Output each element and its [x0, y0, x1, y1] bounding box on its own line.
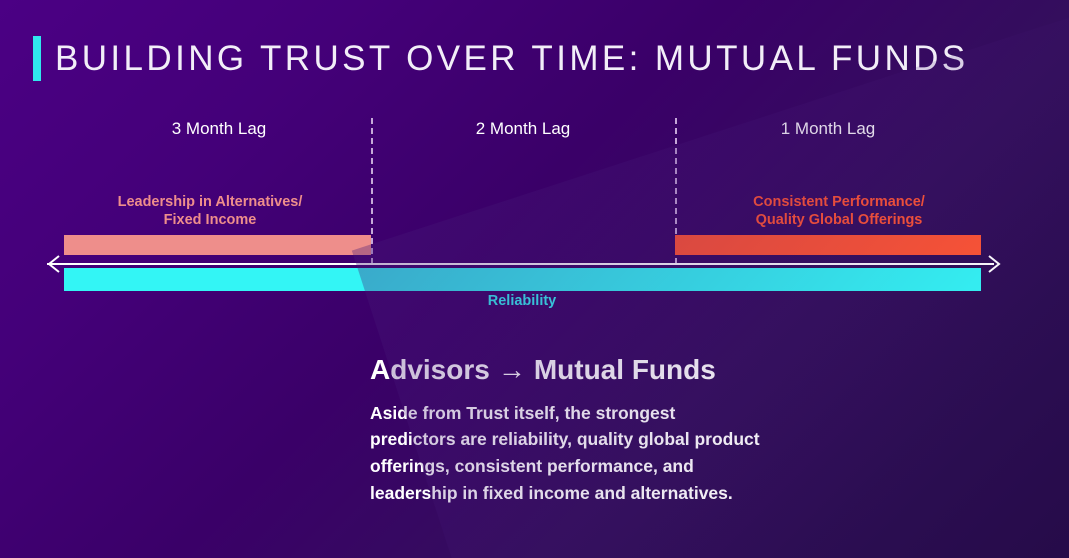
- segment-bar-alternatives: [64, 235, 371, 255]
- lag-label-3-month: 3 Month Lag: [172, 119, 267, 139]
- timeline-divider-1: [371, 118, 373, 264]
- summary-heading-right: Mutual Funds: [534, 355, 716, 386]
- reliability-label: Reliability: [488, 293, 557, 309]
- summary-body-line-4: leadership in fixed income and alternati…: [370, 480, 930, 507]
- lag-label-2-month: 2 Month Lag: [476, 119, 571, 139]
- segment-caption-performance-line2: Quality Global Offerings: [753, 211, 925, 229]
- summary-body-line-2: predictors are reliability, quality glob…: [370, 426, 930, 453]
- right-arrow-icon: [986, 255, 1002, 273]
- segment-caption-alternatives-line1: Leadership in Alternatives/: [118, 193, 303, 211]
- summary-body-line-3: offerings, consistent performance, and: [370, 453, 930, 480]
- reliability-bar: [64, 268, 981, 291]
- slide-canvas: BUILDING TRUST OVER TIME: MUTUAL FUNDS 3…: [0, 0, 1069, 558]
- segment-caption-performance-line1: Consistent Performance/: [753, 193, 925, 211]
- segment-caption-alternatives-line2: Fixed Income: [118, 211, 303, 229]
- summary-block: Advisors → Mutual Funds Aside from Trust…: [370, 355, 930, 506]
- summary-body: Aside from Trust itself, the strongest p…: [370, 400, 930, 506]
- timeline-divider-2: [675, 118, 677, 264]
- segment-bar-performance: [675, 235, 981, 255]
- title-accent-bar: [33, 36, 41, 81]
- segment-caption-performance: Consistent Performance/ Quality Global O…: [753, 193, 925, 230]
- page-title: BUILDING TRUST OVER TIME: MUTUAL FUNDS: [33, 36, 969, 81]
- timeline-axis: [47, 263, 994, 265]
- summary-heading-left: Advisors: [370, 355, 490, 386]
- lag-label-1-month: 1 Month Lag: [781, 119, 876, 139]
- left-arrow-icon: [46, 255, 62, 273]
- segment-caption-alternatives: Leadership in Alternatives/ Fixed Income: [118, 193, 303, 230]
- summary-body-line-1: Aside from Trust itself, the strongest: [370, 400, 930, 427]
- summary-heading: Advisors → Mutual Funds: [370, 355, 930, 386]
- title-text: BUILDING TRUST OVER TIME: MUTUAL FUNDS: [55, 41, 969, 76]
- right-arrow-glyph-icon: →: [494, 355, 530, 386]
